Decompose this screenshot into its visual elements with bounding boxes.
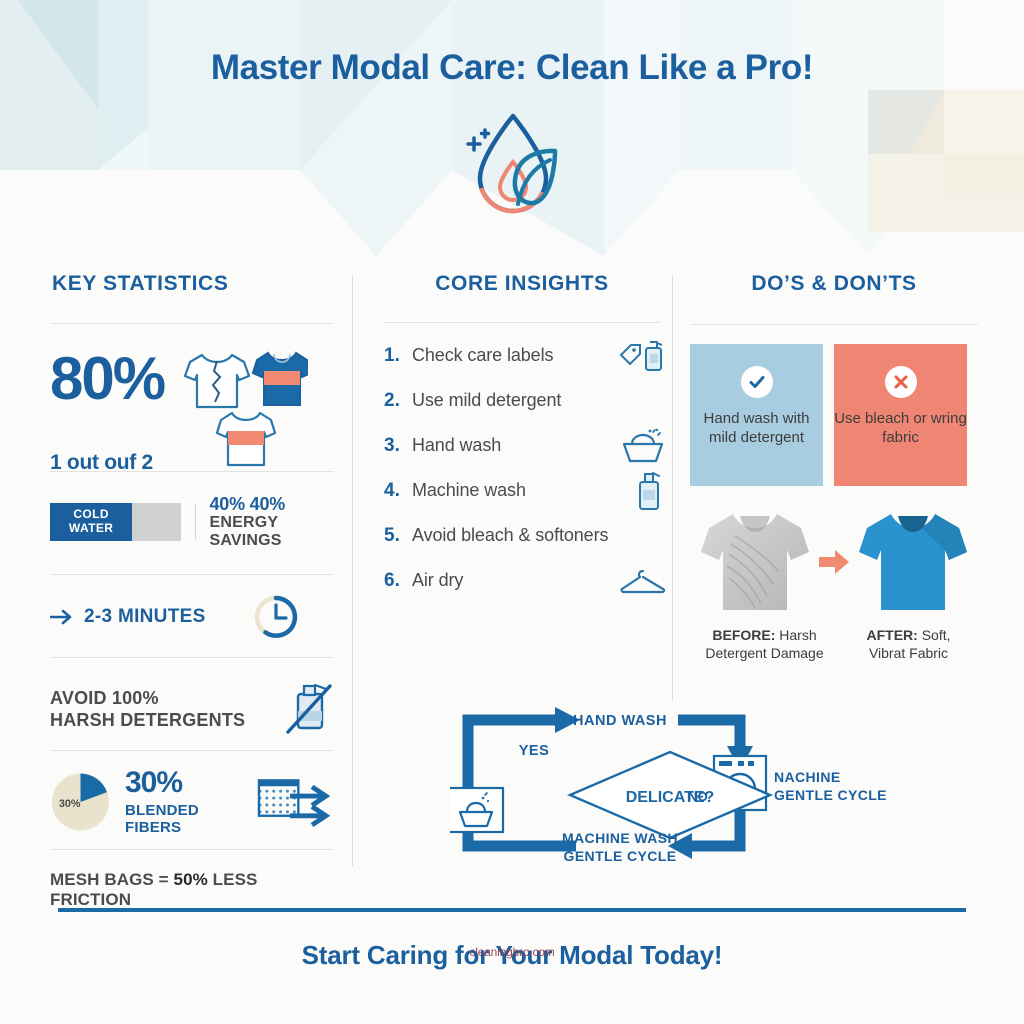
energy-savings: 40% 40% ENERGY SAVINGS: [209, 494, 336, 550]
flow-hand-wash-label: HAND WASH: [573, 713, 667, 729]
detergent-bottle-icon: [632, 470, 666, 512]
before-after-captions: BEFORE: Harsh Detergent Damage AFTER: So…: [690, 626, 978, 662]
care-label-tag-icon: [618, 339, 666, 373]
mesh-bags-highlight: 50%: [174, 870, 208, 889]
list-item[interactable]: 2. Use mild detergent: [384, 378, 666, 423]
after-caption-bold: AFTER:: [866, 627, 917, 643]
energy-savings-percent: 40% 40%: [209, 494, 336, 514]
cold-water-bar: COLD WATER: [50, 503, 181, 541]
list-item-number: 1.: [384, 345, 412, 367]
cold-water-line2: WATER: [69, 522, 113, 536]
dont-card-text: Use bleach or wring fabric: [834, 410, 967, 448]
before-after-visual: [690, 508, 978, 616]
list-item[interactable]: 6. Air dry: [384, 558, 666, 603]
divider: [50, 657, 334, 658]
divider: [690, 324, 978, 325]
pie-label: 30%: [59, 798, 81, 810]
flow-machine-right-line2: GENTLE CYCLE: [774, 787, 887, 803]
duration-value: 2-3 MINUTES: [84, 606, 206, 628]
list-item-label: Machine wash: [412, 480, 526, 501]
list-item[interactable]: 4. Machine wash: [384, 468, 666, 513]
flow-yes-label: YES: [519, 743, 550, 759]
avoid-line1: AVOID 100%: [50, 687, 245, 709]
core-insights-title: CORE INSIGHTS: [378, 272, 666, 296]
core-insights-column: CORE INSIGHTS 1. Check care labels 2. Us…: [378, 272, 666, 603]
list-item-number: 2.: [384, 390, 412, 412]
cold-water-stat: COLD WATER 40% 40% ENERGY SAVINGS: [50, 494, 336, 550]
tshirt-group-icon: [178, 343, 308, 471]
blue-smooth-tshirt-icon: [857, 508, 969, 616]
before-caption: BEFORE: Harsh Detergent Damage: [701, 626, 829, 662]
column-divider-left: [352, 276, 353, 866]
do-card-text: Hand wash with mild detergent: [690, 410, 823, 448]
divider: [50, 849, 334, 850]
flow-machine-right-line1: NACHINE: [774, 769, 841, 785]
dos-donts-cards: Hand wash with mild detergent Use bleach…: [690, 344, 978, 486]
list-item-label: Air dry: [412, 570, 463, 591]
divider: [50, 750, 334, 751]
list-item-number: 3.: [384, 435, 412, 457]
wash-decision-flowchart: DELICATE? HAND WASH YES NO NACHINE GENTL…: [450, 690, 890, 885]
blended-fibers-pie-chart: 30%: [50, 771, 111, 833]
before-caption-bold: BEFORE:: [712, 627, 775, 643]
list-item-number: 5.: [384, 525, 412, 547]
duration-stat: 2-3 MINUTES: [50, 591, 336, 643]
avoid-detergent-stat: AVOID 100% HARSH DETERGENTS: [50, 676, 336, 742]
dos-and-donts-column: DO’S & DON’TS Hand wash with mild deterg…: [690, 272, 978, 662]
list-item[interactable]: 5. Avoid bleach & softoners: [384, 513, 666, 558]
list-item-label: Use mild detergent: [412, 390, 561, 411]
do-card[interactable]: Hand wash with mild detergent: [690, 344, 823, 486]
list-item-label: Avoid bleach & softoners: [412, 525, 608, 546]
divider: [384, 322, 660, 323]
mesh-bags-prefix: MESH BAGS =: [50, 870, 174, 889]
blended-fibers-value: 30%: [125, 768, 257, 798]
key-statistics-title: KEY STATISTICS: [52, 272, 336, 296]
arrow-right-icon: [50, 609, 76, 625]
list-item[interactable]: 1. Check care labels: [384, 333, 666, 378]
check-circle-icon: [741, 366, 773, 398]
column-divider-right: [672, 276, 673, 700]
clock-icon: [252, 593, 300, 641]
list-item-number: 4.: [384, 480, 412, 502]
cold-water-bar-label: COLD WATER: [50, 503, 132, 541]
list-item-number: 6.: [384, 570, 412, 592]
watermark: cleaningbro.com: [0, 945, 1024, 959]
list-item-label: Hand wash: [412, 435, 501, 456]
flow-machine-bottom-line2: GENTLE CYCLE: [564, 848, 677, 864]
footer-divider: [58, 908, 966, 912]
dont-card[interactable]: Use bleach or wring fabric: [834, 344, 967, 486]
arrow-right-icon: [817, 545, 851, 579]
mesh-bags-stat: MESH BAGS = 50% LESS FRICTION: [50, 870, 336, 910]
dos-and-donts-title: DO’S & DON’TS: [690, 272, 978, 296]
divider: [50, 323, 334, 324]
no-detergent-bottle-icon: [282, 680, 336, 738]
page-title: Master Modal Care: Clean Like a Pro!: [0, 48, 1024, 88]
water-droplet-leaf-icon: [452, 104, 574, 226]
blended-fibers-text: 30% BLENDED FIBERS: [125, 768, 257, 836]
avoid-detergent-text: AVOID 100% HARSH DETERGENTS: [50, 687, 245, 732]
list-item[interactable]: 3. Hand wash: [384, 423, 666, 468]
stat-ratio: 1 out ouf 2: [50, 451, 164, 475]
key-statistics-column: KEY STATISTICS 80% 1 out ouf 2: [50, 272, 336, 910]
flow-no-label: NO: [688, 789, 708, 804]
mesh-bag-icon: [257, 774, 336, 830]
cold-water-line1: COLD: [73, 508, 109, 522]
energy-savings-label: ENERGY SAVINGS: [209, 514, 336, 550]
flow-machine-bottom-line1: MACHINE WASH: [562, 830, 678, 846]
divider: [50, 574, 334, 575]
wash-basin-icon: [620, 428, 666, 464]
list-item-label: Check care labels: [412, 345, 553, 366]
after-caption: AFTER: Soft, Vibrat Fabric: [850, 626, 968, 662]
hanger-icon: [620, 567, 666, 595]
x-circle-icon: [885, 366, 917, 398]
stat-big-percent: 80%: [50, 349, 164, 409]
blended-fibers-stat: 30% 30% BLENDED FIBERS: [50, 765, 336, 839]
blended-fibers-caption: BLENDED FIBERS: [125, 802, 257, 836]
grey-wrinkled-tshirt-icon: [699, 508, 811, 616]
avoid-line2: HARSH DETERGENTS: [50, 709, 245, 731]
divider: [195, 504, 196, 540]
